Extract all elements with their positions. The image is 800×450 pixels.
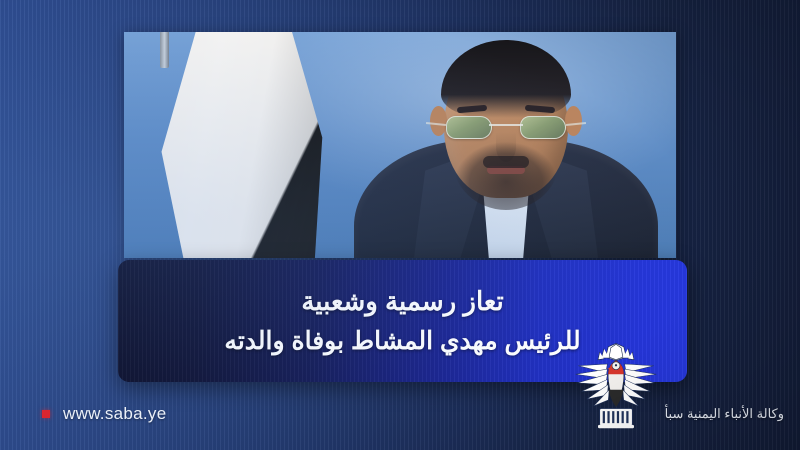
portrait-subject xyxy=(336,32,676,258)
agency-signature: وكالة الأنباء اليمنية سبأ xyxy=(573,340,784,436)
site-url-text[interactable]: www.saba.ye xyxy=(63,404,166,424)
headline-line-2: للرئيس مهدي المشاط بوفاة والدته xyxy=(224,326,580,356)
saba-eagle-logo-icon xyxy=(573,340,659,436)
agency-name-label: وكالة الأنباء اليمنية سبأ xyxy=(665,406,784,422)
site-url[interactable]: www.saba.ye xyxy=(42,404,166,424)
yemen-flag xyxy=(138,32,334,258)
headline-line-1: تعاز رسمية وشعبية xyxy=(301,286,503,317)
moustache xyxy=(483,156,529,168)
news-graphic-card: تعاز رسمية وشعبية للرئيس مهدي المشاط بوف… xyxy=(0,0,800,450)
glasses-bridge xyxy=(489,124,523,126)
hero-photo xyxy=(124,32,676,258)
red-square-bullet-icon xyxy=(42,410,50,418)
flag-pole xyxy=(160,32,169,68)
